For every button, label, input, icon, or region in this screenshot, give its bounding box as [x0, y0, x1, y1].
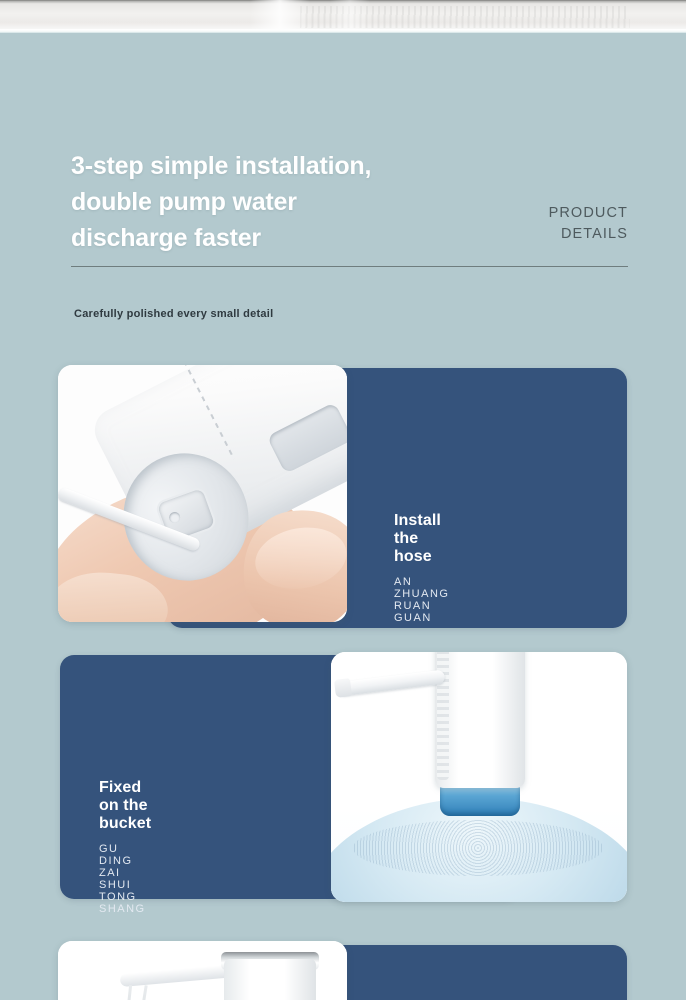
step-2-text-block: Fixed on the bucket GU DING ZAI SHUI TON… — [99, 779, 151, 915]
step-2-photo[interactable] — [331, 652, 627, 902]
step-3-photo[interactable] — [58, 941, 347, 1000]
step-1-photo[interactable] — [58, 365, 347, 622]
strip-fold-highlight-secondary — [330, 0, 370, 31]
step-1-pinyin: AN ZHUANG RUAN GUAN — [394, 576, 449, 624]
pump-body — [224, 959, 316, 1000]
product-details-label: PRODUCT DETAILS — [549, 203, 628, 245]
header-divider — [71, 266, 628, 267]
page-title: 3-step simple installation, double pump … — [71, 148, 371, 256]
step-2-pinyin: GU DING ZAI SHUI TONG SHANG — [99, 843, 151, 915]
bottle-textured-ring — [353, 820, 603, 876]
strip-fold-highlight — [250, 0, 310, 31]
step-1-text-block: Install the hose AN ZHUANG RUAN GUAN — [394, 512, 449, 624]
header-subhead: Carefully polished every small detail — [74, 308, 273, 320]
step-1-title: Install the hose — [394, 512, 449, 566]
strip-bottom-edge — [0, 29, 686, 33]
step-2-title: Fixed on the bucket — [99, 779, 151, 833]
pump-spout-tip — [334, 678, 352, 698]
previous-image-strip — [0, 0, 686, 31]
